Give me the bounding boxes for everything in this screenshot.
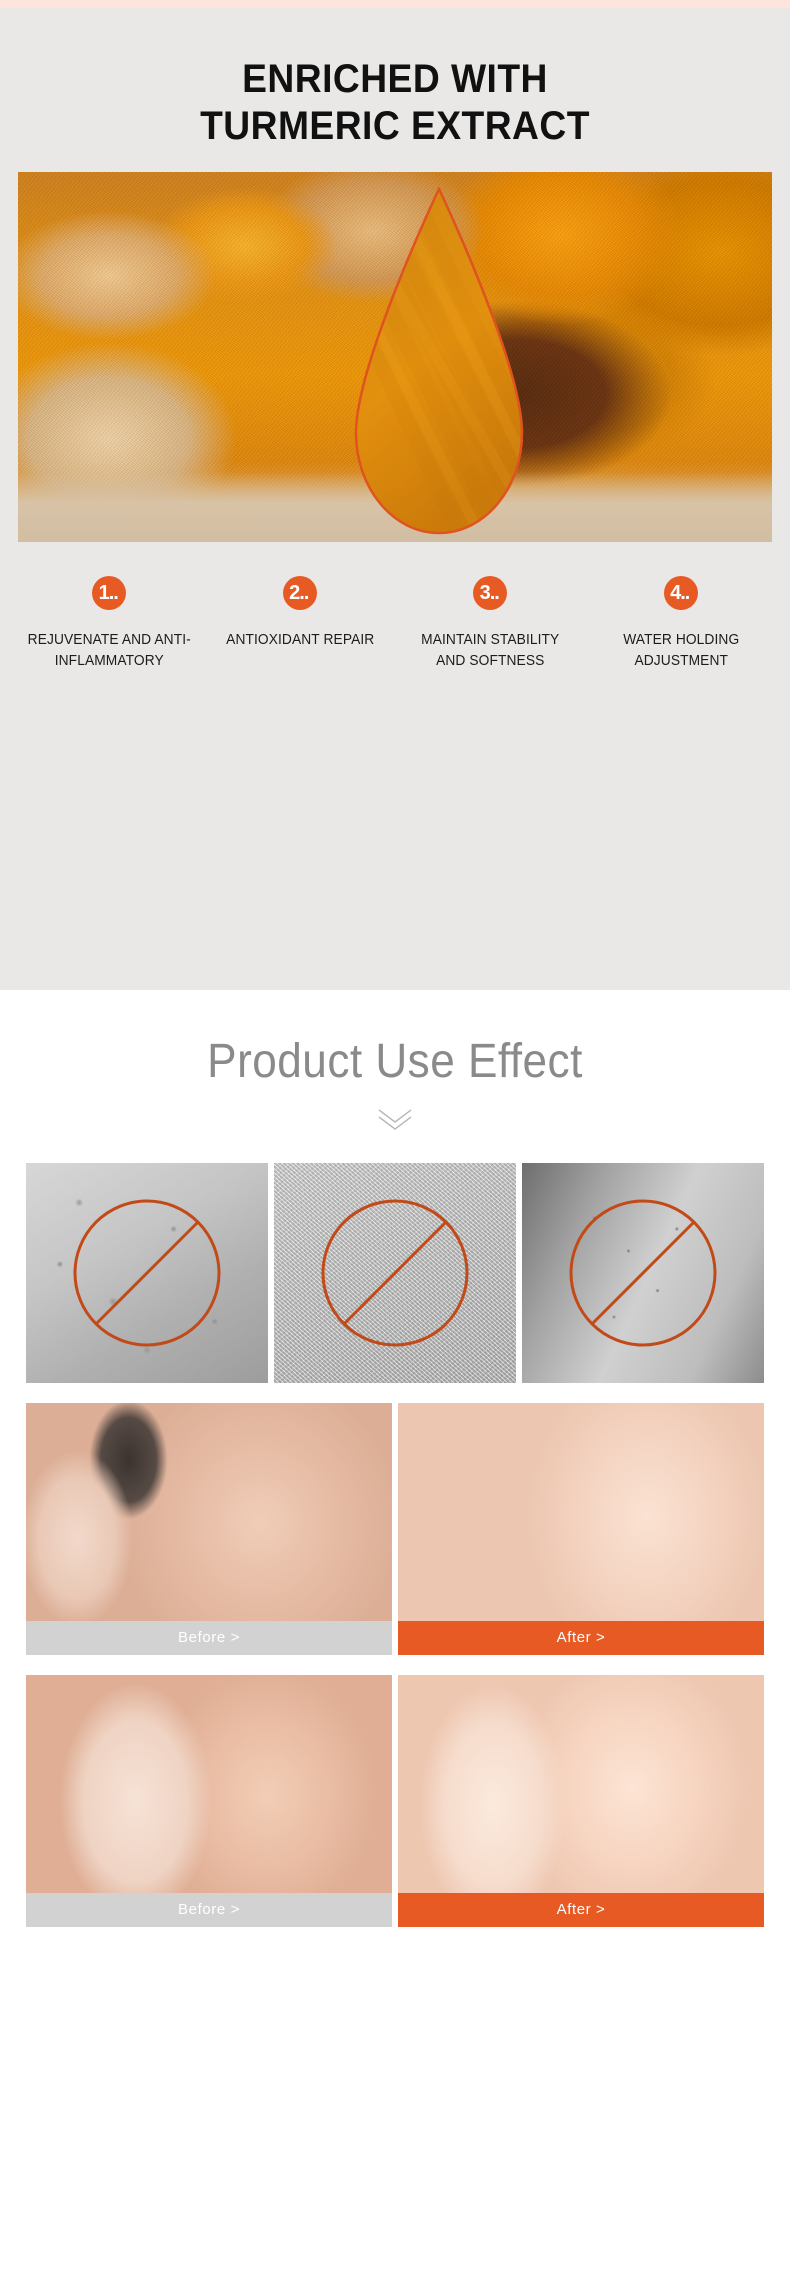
page-title: ENRICHED WITH TURMERIC EXTRACT <box>28 38 763 172</box>
skin-problem-row <box>26 1163 764 1383</box>
product-use-effect-section: Product Use Effect <box>0 990 790 1927</box>
feature-item-1: 1.. REJUVENATE AND ANTI-INFLAMMATORY <box>14 576 205 671</box>
feature-badge-2: 2.. <box>283 576 317 610</box>
feature-label-1: REJUVENATE AND ANTI-INFLAMMATORY <box>24 630 194 671</box>
effect-section-title: Product Use Effect <box>32 1034 759 1089</box>
feature-item-3: 3.. MAINTAIN STABILITY AND SOFTNESS <box>395 576 586 671</box>
comparison-row-2: Before > After > <box>26 1675 764 1927</box>
no-entry-icon <box>315 1193 475 1353</box>
feature-list: 1.. REJUVENATE AND ANTI-INFLAMMATORY 2..… <box>14 576 776 671</box>
feature-badge-3: 3.. <box>473 576 507 610</box>
feature-label-4: WATER HOLDING ADJUSTMENT <box>596 630 766 671</box>
after-label-1[interactable]: After > <box>398 1621 764 1655</box>
feature-label-2: ANTIOXIDANT REPAIR <box>215 630 385 651</box>
feature-badge-1: 1.. <box>92 576 126 610</box>
double-chevron-down-icon <box>0 1107 790 1133</box>
before-label-1[interactable]: Before > <box>26 1621 392 1655</box>
after-photo-2 <box>398 1675 764 1893</box>
ingredient-section: ENRICHED WITH TURMERIC EXTRACT <box>0 8 790 990</box>
headline-line-1: ENRICHED WITH <box>242 57 548 101</box>
before-photo-2 <box>26 1675 392 1893</box>
comparison-row-1: Before > After > <box>26 1403 764 1655</box>
no-entry-icon <box>67 1193 227 1353</box>
hero-image-wrapper <box>18 172 772 542</box>
problem-tile-acne <box>26 1163 268 1383</box>
feature-badge-4: 4.. <box>664 576 698 610</box>
feature-item-2: 2.. ANTIOXIDANT REPAIR <box>205 576 396 671</box>
comparison-1-before: Before > <box>26 1403 392 1655</box>
comparison-1-after: After > <box>398 1403 764 1655</box>
comparison-2-after: After > <box>398 1675 764 1927</box>
before-photo-1 <box>26 1403 392 1621</box>
no-entry-icon <box>563 1193 723 1353</box>
top-accent-strip <box>0 0 790 8</box>
face-image <box>26 1675 392 1893</box>
face-image <box>26 1403 392 1621</box>
after-label-2[interactable]: After > <box>398 1893 764 1927</box>
comparison-2-before: Before > <box>26 1675 392 1927</box>
face-image <box>398 1403 764 1621</box>
headline-line-2: TURMERIC EXTRACT <box>28 103 763 150</box>
before-label-2[interactable]: Before > <box>26 1893 392 1927</box>
feature-label-3: MAINTAIN STABILITY AND SOFTNESS <box>405 630 575 671</box>
feature-item-4: 4.. WATER HOLDING ADJUSTMENT <box>586 576 777 671</box>
problem-tile-oily <box>274 1163 516 1383</box>
problem-tile-pores <box>522 1163 764 1383</box>
turmeric-droplet-callout <box>350 187 528 535</box>
face-image <box>398 1675 764 1893</box>
after-photo-1 <box>398 1403 764 1621</box>
